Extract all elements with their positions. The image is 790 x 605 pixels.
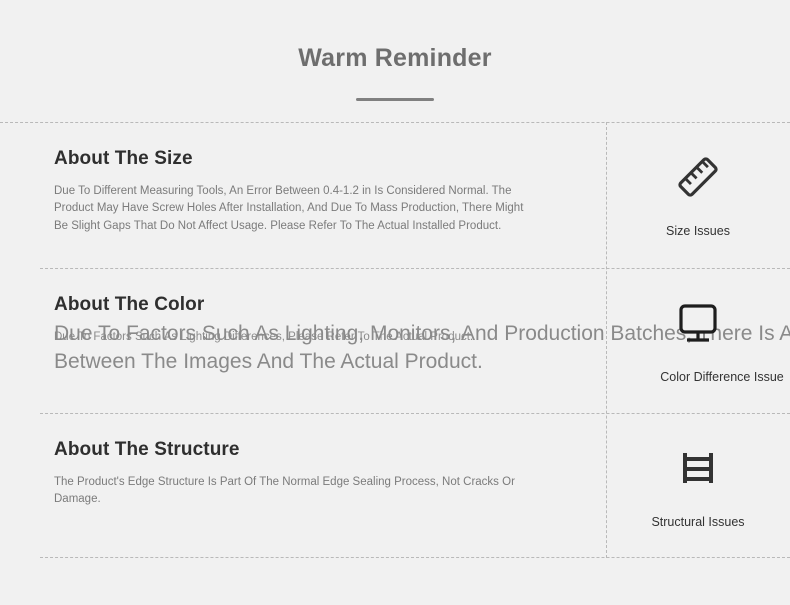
structure-icon-cell: Structural Issues: [606, 413, 790, 529]
table-bottom-border: [40, 557, 790, 558]
monitor-icon: [670, 292, 726, 354]
section-heading-size: About The Size: [54, 148, 566, 170]
section-body-size: Due To Different Measuring Tools, An Err…: [54, 183, 524, 235]
reminder-table: About The Size Due To Different Measurin…: [0, 122, 790, 558]
title-rule-wrapper: [0, 98, 790, 101]
row-separator: [40, 413, 790, 414]
icon-caption-size: Size Issues: [666, 224, 730, 238]
section-body-structure: The Product's Edge Structure Is Part Of …: [54, 474, 524, 509]
size-text-cell: About The Size Due To Different Measurin…: [0, 122, 606, 235]
structure-text-cell: About The Structure The Product's Edge S…: [0, 413, 606, 509]
section-body-color: Due To Factors Such As Lighting Differen…: [54, 329, 474, 346]
title-underline-rule: [356, 98, 434, 101]
color-text-cell: About The Color Due To Factors Such As L…: [0, 268, 606, 346]
table-row: About The Structure The Product's Edge S…: [0, 413, 790, 558]
table-row: About The Color Due To Factors Such As L…: [0, 268, 790, 413]
icon-caption-color: Color Difference Issue: [660, 370, 783, 384]
page-title: Warm Reminder: [0, 0, 790, 73]
ruler-icon: [670, 146, 726, 208]
ladder-icon: [670, 437, 726, 499]
section-heading-color: About The Color: [54, 294, 566, 316]
warm-reminder-page: Warm Reminder About The Size Due To Diff…: [0, 0, 790, 101]
icon-caption-structure: Structural Issues: [651, 515, 744, 529]
size-icon-cell: Size Issues: [606, 122, 790, 238]
color-icon-cell: Color Difference Issue: [606, 268, 790, 384]
table-row: About The Size Due To Different Measurin…: [0, 122, 790, 268]
section-heading-structure: About The Structure: [54, 439, 566, 461]
